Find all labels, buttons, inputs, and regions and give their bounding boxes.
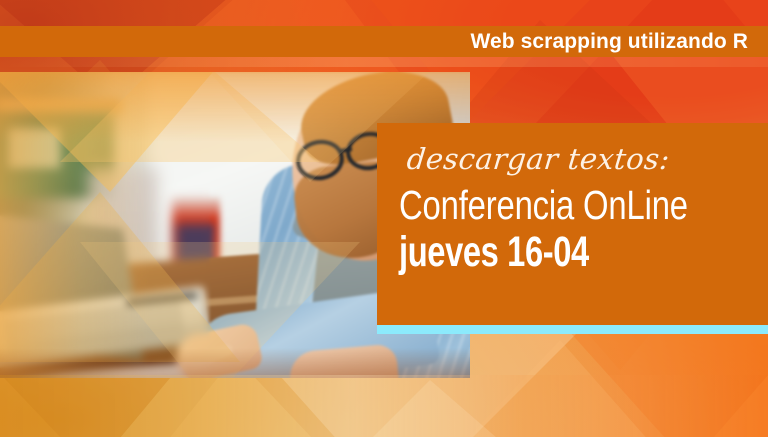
banner-title: Web scrapping utilizando R (470, 31, 748, 52)
card-heading: Conferencia OnLine (399, 184, 680, 227)
banner-underglow (0, 57, 768, 67)
card-script-line: descargar textos: (405, 145, 751, 174)
card-date-line: jueves 16-04 (399, 231, 666, 274)
top-banner: Web scrapping utilizando R (0, 26, 768, 57)
photo-bottom-fade (0, 348, 470, 378)
content-card: descargar textos: Conferencia OnLine jue… (377, 123, 768, 325)
promo-banner-graphic: Web scrapping utilizando R descargar tex… (0, 0, 768, 437)
card-accent-bar (377, 325, 768, 334)
